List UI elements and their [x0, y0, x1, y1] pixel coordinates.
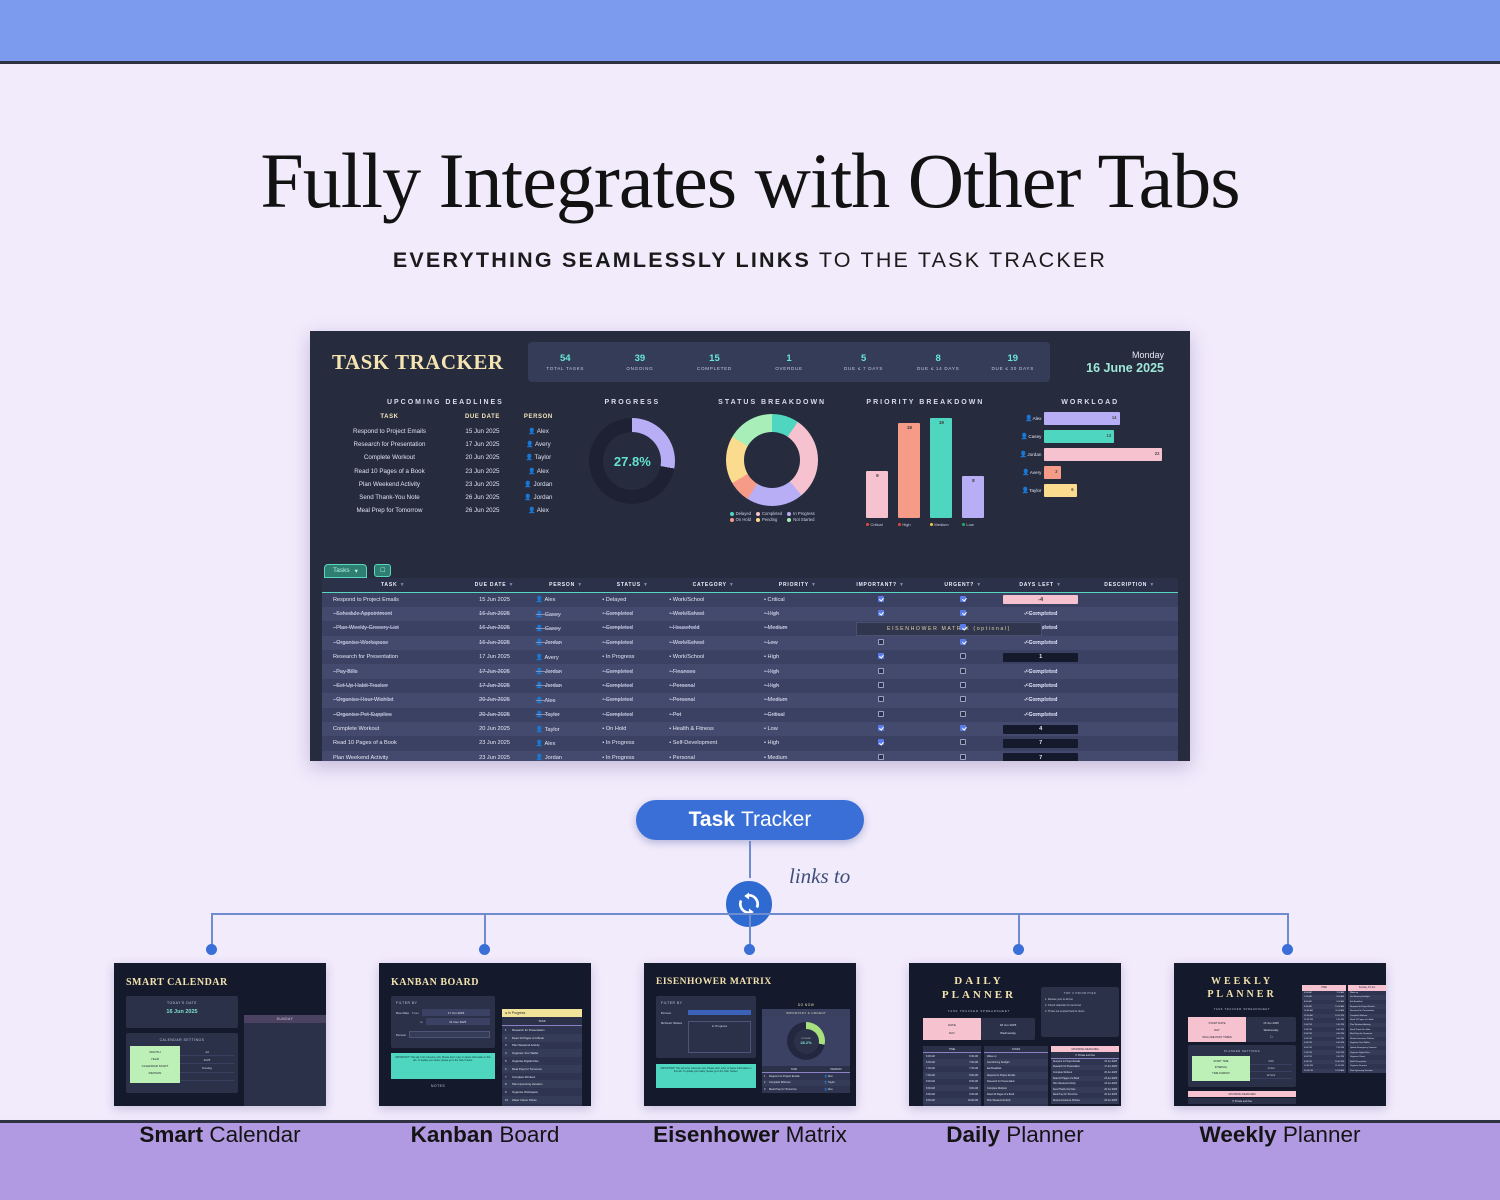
- priority-item: 2. Check calendar for tomorrow: [1045, 1004, 1115, 1007]
- days-left-pill: 4: [1003, 725, 1079, 734]
- kanban-column-title[interactable]: ● In Progress: [502, 1009, 582, 1017]
- time-from: 7:00 AM: [926, 1067, 935, 1070]
- time-to: 12:00 PM: [1335, 1015, 1344, 1017]
- cell-important[interactable]: [835, 650, 927, 664]
- kanban-card-label: Plan Weekend Activity: [512, 1043, 540, 1047]
- cell-important[interactable]: [835, 607, 927, 621]
- table-column-header[interactable]: PRIORITY ▼: [761, 578, 835, 593]
- time-from: 7:30 AM: [926, 1074, 935, 1077]
- workload-bars: 👤Alex 14 👤Casey 13 👤Jordan 22 👤Avery 3 👤…: [1006, 412, 1174, 497]
- kanban-card-index: 1: [505, 1028, 512, 1032]
- cell-important[interactable]: [835, 636, 927, 650]
- charts-row: UPCOMING DEADLINES TASKDUE DATEPERSON Re…: [310, 393, 1190, 553]
- cell-category: • Work/School: [666, 636, 761, 650]
- cell-important[interactable]: [835, 736, 927, 750]
- workload-row: 👤Alex 14: [1006, 412, 1174, 425]
- eis-list-row[interactable]: 1Respond to Project Emails👤 Alex: [762, 1073, 850, 1080]
- table-row[interactable]: –Plan Weekly Grocery List 16 Jun 2025 👤 …: [322, 621, 1178, 635]
- time-from: 1:00 PM: [1304, 1024, 1312, 1026]
- filter-icon[interactable]: ▼: [641, 582, 649, 588]
- legend-color-dot: [787, 512, 791, 516]
- to-label: to: [420, 1020, 423, 1024]
- deadline-due-date: 26 Jun 2025: [453, 492, 512, 503]
- legend-color-dot: [756, 512, 760, 516]
- table-column-header[interactable]: URGENT? ▼: [927, 578, 1000, 593]
- filter-icon[interactable]: ▼: [575, 582, 583, 588]
- cell-category: • Pet: [666, 708, 761, 722]
- cell-status: • In Progress: [599, 751, 666, 761]
- kanban-card-label: Water Indoor Plants: [512, 1098, 537, 1102]
- stat-label: TOTAL TASKS: [528, 366, 603, 371]
- urgent-checkbox[interactable]: [960, 653, 966, 659]
- filter-icon[interactable]: ▼: [1054, 582, 1062, 588]
- urgent-checkbox[interactable]: [960, 696, 966, 702]
- cell-due-date: 23 Jun 2025: [456, 736, 532, 750]
- daily-planner-screenshot: DAILYPLANNER TASK TRACKER SPREADSHEET DA…: [909, 963, 1121, 1106]
- time-from: 11:00 AM: [1304, 1015, 1313, 1017]
- days-left-pill: -4: [1003, 595, 1079, 604]
- setting-value[interactable]: Sunday: [180, 1064, 234, 1072]
- task-tracker-dashboard-screenshot: TASK TRACKER 54 TOTAL TASKS 39 ONGOING 1…: [310, 331, 1190, 761]
- from-value-input[interactable]: 17 Jun 2025: [422, 1009, 490, 1016]
- caption-bold: Weekly: [1200, 1122, 1277, 1147]
- priority-item: 1. Review your to-do list: [1045, 998, 1115, 1001]
- cell-task: –Organise Workspace: [330, 636, 456, 650]
- eis-row-task: Meal Prep for Tomorrow: [769, 1088, 824, 1091]
- stat-label: COMPLETED: [677, 366, 752, 371]
- kanban-card[interactable]: 5Organise Digital Files: [502, 1057, 582, 1065]
- kanban-card[interactable]: 9Organise Workspace: [502, 1088, 582, 1096]
- time-to: 10:00 AM: [1335, 1006, 1344, 1008]
- cell-important[interactable]: [835, 693, 927, 707]
- person-pin-icon: 👤: [536, 612, 543, 618]
- cell-urgent[interactable]: [927, 592, 1000, 607]
- person-pin-icon: 👤: [528, 508, 535, 514]
- deadline-column-header: DUE DATE: [453, 414, 512, 424]
- calendar-settings-label: CALENDAR SETTINGS: [130, 1038, 234, 1042]
- time-to: 11:00 AM: [1335, 1010, 1344, 1012]
- cell-important[interactable]: [835, 722, 927, 736]
- to-value-input[interactable]: 31 Dec 2025: [426, 1018, 490, 1025]
- time-from: 8:00 AM: [1304, 1001, 1312, 1003]
- deadline-due-date: 23 Jun 2025: [453, 479, 512, 490]
- person-pin-icon: 👤: [528, 429, 535, 435]
- workload-bar: 6: [1044, 484, 1076, 497]
- important-checkbox[interactable]: [878, 711, 884, 717]
- filter-icon[interactable]: ▼: [727, 582, 735, 588]
- time-from: 10:00 PM: [1304, 1065, 1313, 1067]
- deadline-date: 26 Jun 2025: [1104, 1100, 1117, 1102]
- person-pin-icon: 👤: [536, 669, 543, 675]
- cell-priority: • High: [761, 679, 835, 693]
- important-checkbox[interactable]: [878, 653, 884, 659]
- deadline-task: Send Thank-You Note: [1053, 1089, 1075, 1091]
- priority-bar-wrap: 18: [898, 423, 920, 518]
- day-value: Wednesday: [981, 1029, 1035, 1037]
- cell-task: Respond to Project Emails: [330, 592, 456, 607]
- days-left-pill: ✓Completed: [1003, 667, 1079, 676]
- legend-color-dot: [730, 518, 734, 522]
- urgent-checkbox[interactable]: [960, 624, 966, 630]
- person-label: Person: [396, 1033, 406, 1037]
- smart-calendar-screenshot: SMART CALENDAR TODAY'S DATE 16 Jun 2025 …: [114, 963, 326, 1106]
- cell-status: • Completed: [599, 708, 666, 722]
- deadline-row: Respond to Project Emails 15 Jun 2025 👤 …: [328, 426, 563, 437]
- cell-important[interactable]: [835, 751, 927, 761]
- linked-tab-card[interactable]: KANBAN BOARD FILTER BY Due Date From 17 …: [379, 963, 591, 1148]
- weekly-setting-labels: START DATE DAY INCLUDE PAST TIMES: [1188, 1017, 1246, 1042]
- linked-tab-card[interactable]: EISENHOWER MATRIX FILTER BY Person Refre…: [644, 963, 856, 1148]
- stat-value: 54: [528, 353, 603, 364]
- weekly-task-row[interactable]: Plan Upcoming Vacation: [1348, 1069, 1386, 1074]
- refresh-status-list[interactable]: In Progress: [688, 1021, 751, 1053]
- important-checkbox[interactable]: [878, 696, 884, 702]
- time-from: 12:00 PM: [1304, 1019, 1313, 1021]
- time-to: 8:00 AM: [1336, 996, 1344, 998]
- deadline-row: Send Thank-You Note 26 Jun 2025 👤 Jordan: [328, 492, 563, 503]
- setting-value[interactable]: Jul: [180, 1048, 234, 1056]
- deadline-due-date: 26 Jun 2025: [453, 505, 512, 516]
- cell-due-date: 20 Jun 2025: [456, 693, 532, 707]
- add-sheet-tab-button[interactable]: ☐: [374, 564, 391, 577]
- filter-icon[interactable]: ▼: [809, 582, 817, 588]
- page-title: Fully Integrates with Other Tabs: [0, 142, 1500, 220]
- sheet-tab-tasks[interactable]: Tasks ▾: [324, 564, 367, 578]
- top-priorities-box: TOP 3 PRIORITIES 1. Review your to-do li…: [1041, 987, 1119, 1037]
- kanban-card[interactable]: 10Water Indoor Plants: [502, 1096, 582, 1104]
- deadline-due-date: 20 Jun 2025: [453, 452, 512, 463]
- important-checkbox[interactable]: [878, 754, 884, 760]
- progress-panel: PROGRESS 27.8%: [569, 399, 696, 553]
- cell-urgent[interactable]: [927, 650, 1000, 664]
- priority-bar-label: Critical: [866, 522, 888, 527]
- daily-time-column: TIME 6:00 AM6:30 AM6:30 AM7:00 AM7:00 AM…: [923, 1046, 981, 1106]
- cell-urgent[interactable]: [927, 664, 1000, 678]
- planner-settings-box: PLANNER SETTINGS START TIMEINTERVALTIME …: [1188, 1045, 1296, 1087]
- table-column-header[interactable]: DUE DATE ▼: [456, 578, 532, 593]
- badge-connector-line: [749, 841, 751, 883]
- caption-bold: Smart: [139, 1122, 203, 1147]
- cell-status: • Delayed: [599, 592, 666, 607]
- kanban-card[interactable]: 1Research for Presentation: [502, 1026, 582, 1034]
- kanban-filter-box: FILTER BY Due Date From 17 Jun 2025 to 3…: [391, 996, 495, 1048]
- kanban-title: KANBAN BOARD: [391, 977, 479, 988]
- cell-status: • Completed: [599, 607, 666, 621]
- card-caption: Kanban Board: [379, 1122, 591, 1148]
- cell-urgent[interactable]: [927, 636, 1000, 650]
- eisenhower-filter-box: FILTER BY Person Refresh Status In Progr…: [656, 996, 756, 1058]
- deadline-task: Review Insurance Policies: [1053, 1100, 1080, 1102]
- important-checkbox[interactable]: [878, 725, 884, 731]
- deadline-person: 👤 Taylor: [514, 452, 563, 463]
- stat-label: DUE ≤ 30 DAYS: [975, 366, 1050, 371]
- workload-bar: 14: [1044, 412, 1119, 425]
- table-column-header[interactable]: DAYS LEFT ▼: [1000, 578, 1082, 593]
- todays-date-box: TODAY'S DATE 16 Jun 2025: [126, 996, 238, 1028]
- deadline-row: Research for Presentation 17 Jun 2025 👤 …: [328, 439, 563, 450]
- legend-color-dot: [756, 518, 760, 522]
- cell-due-date: 17 Jun 2025: [456, 650, 532, 664]
- table-row[interactable]: –Organise Pet Supplies 20 Jun 2025 👤 Tay…: [322, 708, 1178, 722]
- table-row[interactable]: –Organise Hour Wishlist 20 Jun 2025 👤 Al…: [322, 693, 1178, 707]
- workload-person: 👤Avery: [1006, 469, 1044, 476]
- deadline-date: 20 Jun 2025: [1104, 1072, 1117, 1074]
- cell-due-date: 23 Jun 2025: [456, 751, 532, 761]
- chevron-down-icon[interactable]: ▾: [355, 567, 358, 575]
- kanban-card[interactable]: 6Meal Prep for Tomorrow: [502, 1065, 582, 1073]
- deadline-date: 15 Jun 2025: [1104, 1061, 1117, 1063]
- days-left-pill: 1: [1003, 653, 1079, 662]
- date-label: DATE: [923, 1021, 981, 1029]
- important-checkbox[interactable]: [878, 739, 884, 745]
- table-column-header[interactable]: IMPORTANT? ▼: [835, 578, 927, 593]
- time-from: 8:00 AM: [926, 1080, 935, 1083]
- cell-category: • Self-Development: [666, 736, 761, 750]
- stat-value: 1: [752, 353, 827, 364]
- important-checkbox[interactable]: [878, 668, 884, 674]
- weekly-setting-values[interactable]: 15 Jun 2025 Wednesday ☐: [1246, 1017, 1296, 1042]
- important-checkbox[interactable]: [878, 596, 884, 602]
- important-checkbox[interactable]: [878, 639, 884, 645]
- task-tracker-badge[interactable]: TaskTracker: [636, 800, 864, 840]
- stat-value: 39: [603, 353, 678, 364]
- time-to: 11:00 PM: [1335, 1065, 1344, 1067]
- table-row[interactable]: –Organise Workspace 16 Jun 2025 👤 Jordan…: [322, 636, 1178, 650]
- deadlines-subheader: ☐ Private and Due: [1051, 1052, 1119, 1059]
- table-row[interactable]: –Pay Bills 17 Jun 2025 👤 Jordan • Comple…: [322, 664, 1178, 678]
- urgent-checkbox[interactable]: [960, 725, 966, 731]
- deadline-task: Send Thank-You Note: [328, 492, 451, 503]
- status-legend-item: In Progress: [787, 511, 814, 516]
- deadline-person: 👤 Alex: [514, 466, 563, 477]
- progress-title: PROGRESS: [605, 399, 661, 406]
- workload-person: 👤Jordan: [1006, 451, 1044, 458]
- tasks-table: TASK ▼DUE DATE ▼PERSON ▼STATUS ▼CATEGORY…: [322, 578, 1178, 762]
- cell-important[interactable]: [835, 679, 927, 693]
- person-pin-icon: 👤: [536, 655, 543, 661]
- deadline-date: 26 Jun 2025: [1104, 1094, 1117, 1096]
- deadlines-table: TASKDUE DATEPERSON Respond to Project Em…: [326, 412, 565, 518]
- task-slot-row[interactable]: Send Thank-You Note: [984, 1104, 1048, 1106]
- cell-due-date: 17 Jun 2025: [456, 679, 532, 693]
- calendar-settings-box: CALENDAR SETTINGS MONTHYEARCALENDAR STAR…: [126, 1033, 238, 1093]
- setting-label: PERSON: [130, 1070, 180, 1077]
- weekly-day-column: Sunday, 15 Jun Wake upGet Morning Sunlig…: [1348, 985, 1386, 1073]
- cell-category: • Household: [666, 621, 761, 635]
- cell-urgent[interactable]: [927, 607, 1000, 621]
- dashboard-logo: TASK TRACKER: [332, 350, 528, 375]
- workload-bar: 3: [1044, 466, 1060, 479]
- cell-important[interactable]: [835, 664, 927, 678]
- kanban-card[interactable]: 3Plan Weekend Activity: [502, 1042, 582, 1050]
- cell-important[interactable]: [835, 708, 927, 722]
- progress-value: 27.8%: [614, 454, 651, 469]
- setting-value[interactable]: 6:00: [1250, 1058, 1292, 1065]
- table-row[interactable]: Read 10 Pages of a Book 23 Jun 2025 👤 Al…: [322, 736, 1178, 750]
- filter-icon[interactable]: ▼: [506, 582, 514, 588]
- eis-list-row[interactable]: 2Complete Workout👤 Taylor: [762, 1080, 850, 1087]
- time-from: 8:00 PM: [1304, 1056, 1312, 1058]
- from-label: From: [412, 1011, 419, 1015]
- date-value[interactable]: 18 Jun 2025: [981, 1021, 1035, 1029]
- filter-icon[interactable]: ▼: [1147, 582, 1155, 588]
- important-urgent-header: IMPORTANT & URGENT: [762, 1009, 850, 1016]
- stat-value: 8: [901, 353, 976, 364]
- urgent-checkbox[interactable]: [960, 639, 966, 645]
- urgent-checkbox[interactable]: [960, 711, 966, 717]
- urgent-checkbox[interactable]: [960, 596, 966, 602]
- setting-value[interactable]: 12 hour: [1250, 1072, 1292, 1079]
- cell-urgent[interactable]: [927, 693, 1000, 707]
- kanban-card[interactable]: 7Complete Workout: [502, 1073, 582, 1081]
- cell-description: [1081, 607, 1178, 621]
- cell-category: • Health & Fitness: [666, 722, 761, 736]
- table-row[interactable]: Research for Presentation 17 Jun 2025 👤 …: [322, 650, 1178, 664]
- filter-icon[interactable]: ▼: [397, 582, 405, 588]
- urgent-checkbox[interactable]: [960, 754, 966, 760]
- time-from: 9:00 PM: [1304, 1061, 1312, 1063]
- table-column-header[interactable]: STATUS ▼: [599, 578, 666, 593]
- deadline-due-date: 15 Jun 2025: [453, 426, 512, 437]
- time-from: 11:00 PM: [1304, 1070, 1313, 1072]
- card-caption: Eisenhower Matrix: [644, 1122, 856, 1148]
- person-pin-icon: 👤: [536, 640, 543, 646]
- cell-person: 👤 Casey: [533, 621, 600, 635]
- eis-list-row[interactable]: 3Meal Prep for Tomorrow👤 Alex: [762, 1086, 850, 1093]
- person-select[interactable]: [688, 1010, 751, 1015]
- table-column-header[interactable]: TASK ▼: [330, 578, 456, 593]
- important-checkbox[interactable]: [878, 682, 884, 688]
- time-to: 7:00 PM: [1336, 1047, 1344, 1049]
- table-row[interactable]: –Set Up Habit Tracker 17 Jun 2025 👤 Jord…: [322, 679, 1178, 693]
- eisenhower-note-box: IMPORTANT! This tab is for reference onl…: [656, 1064, 756, 1088]
- linked-tabs-cards: SMART CALENDAR TODAY'S DATE 16 Jun 2025 …: [0, 963, 1500, 1148]
- status-legend-item: Delayed: [730, 511, 751, 516]
- priority-breakdown-panel: PRIORITY BREAKDOWN 9 18 19 8 Critical Hi…: [848, 399, 1002, 553]
- cell-urgent[interactable]: [927, 751, 1000, 761]
- deadline-date: 17 Jun 2025: [1104, 1066, 1117, 1068]
- calendar-settings-values[interactable]: Jul2025Sunday: [180, 1046, 234, 1083]
- urgent-checkbox[interactable]: [960, 610, 966, 616]
- legend-color-dot: [787, 518, 791, 522]
- status-legend-item: Not Started: [787, 517, 814, 522]
- cell-urgent[interactable]: [927, 736, 1000, 750]
- linked-tab-card[interactable]: WEEKLYPLANNER TASK TRACKER SPREADSHEET S…: [1174, 963, 1386, 1148]
- workload-value: 22: [1155, 451, 1160, 456]
- priority-bar-label: Medium: [930, 522, 952, 527]
- linked-tab-card[interactable]: SMART CALENDAR TODAY'S DATE 16 Jun 2025 …: [114, 963, 326, 1148]
- kanban-card[interactable]: 8Plan Upcoming Vacation: [502, 1080, 582, 1088]
- cell-priority: • Critical: [761, 708, 835, 722]
- cell-status: • In Progress: [599, 650, 666, 664]
- setting-value[interactable]: 2025: [180, 1056, 234, 1064]
- cell-category: • Work/School: [666, 592, 761, 607]
- cell-urgent[interactable]: [927, 679, 1000, 693]
- deadline-row: Read 10 Pages of a Book 23 Jun 2025 👤 Al…: [328, 466, 563, 477]
- cell-urgent[interactable]: [927, 708, 1000, 722]
- daily-date-values[interactable]: 18 Jun 2025 Wednesday: [981, 1018, 1035, 1040]
- start-date-label: START DATE: [1188, 1019, 1246, 1026]
- person-pin-icon: 👤: [1021, 434, 1028, 440]
- do-now-quadrant: DO NOW IMPORTANT & URGENT DO NOW 28.2% T…: [762, 1003, 850, 1093]
- person-pin-icon: 👤: [536, 755, 543, 761]
- filter-icon[interactable]: ▼: [974, 582, 982, 588]
- cell-person: 👤 Taylor: [533, 708, 600, 722]
- table-column-header[interactable]: DESCRIPTION ▼: [1081, 578, 1178, 593]
- table-row[interactable]: –Schedule Appointment 16 Jun 2025 👤 Case…: [322, 607, 1178, 621]
- deadline-row: Meal Prep for Tomorrow 26 Jun 2025 👤 Ale…: [328, 505, 563, 516]
- cell-description: [1081, 736, 1178, 750]
- setting-value[interactable]: 1 hour: [1250, 1065, 1292, 1072]
- workload-value: 6: [1071, 487, 1073, 492]
- table-row[interactable]: Plan Weekend Activity 23 Jun 2025 👤 Jord…: [322, 751, 1178, 761]
- urgent-checkbox[interactable]: [960, 739, 966, 745]
- table-row[interactable]: Respond to Project Emails 15 Jun 2025 👤 …: [322, 592, 1178, 607]
- include-past-checkbox[interactable]: ☐: [1246, 1033, 1296, 1040]
- cell-category: • Personal: [666, 693, 761, 707]
- kanban-card[interactable]: 2Read 10 Pages of a Book: [502, 1034, 582, 1042]
- deadline-task: Research for Presentation: [328, 439, 451, 450]
- cell-person: 👤 Avery: [533, 650, 600, 664]
- cell-task: –Set Up Habit Tracker: [330, 679, 456, 693]
- important-checkbox[interactable]: [878, 610, 884, 616]
- days-left-pill: ✓Completed: [1003, 710, 1079, 719]
- connector-node-3: [744, 944, 755, 955]
- table-column-header[interactable]: CATEGORY ▼: [666, 578, 761, 593]
- table-column-header[interactable]: PERSON ▼: [533, 578, 600, 593]
- workload-value: 13: [1106, 433, 1111, 438]
- cell-task: Complete Workout: [330, 722, 456, 736]
- time-to: 7:00 AM: [969, 1061, 978, 1064]
- time-from: 9:00 AM: [926, 1093, 935, 1096]
- time-to: 6:30 AM: [969, 1055, 978, 1058]
- setting-value[interactable]: [180, 1073, 234, 1081]
- filter-icon[interactable]: ▼: [897, 582, 905, 588]
- days-left-pill: ✓Completed: [1003, 696, 1079, 705]
- cell-urgent[interactable]: [927, 722, 1000, 736]
- kanban-card-label: Read 10 Pages of a Book: [512, 1036, 544, 1040]
- table-row[interactable]: Complete Workout 20 Jun 2025 👤 Taylor • …: [322, 722, 1178, 736]
- time-from: 6:00 PM: [1304, 1047, 1312, 1049]
- urgent-checkbox[interactable]: [960, 668, 966, 674]
- person-select[interactable]: [409, 1031, 490, 1038]
- cell-days-left: 7: [1000, 736, 1082, 750]
- kanban-card-index: 10: [505, 1098, 512, 1102]
- time-from: 2:00 PM: [1304, 1029, 1312, 1031]
- cell-status: • Completed: [599, 621, 666, 635]
- cell-person: 👤 Jordan: [533, 636, 600, 650]
- start-date-value[interactable]: 15 Jun 2025: [1246, 1019, 1296, 1026]
- cell-days-left: ✓Completed: [1000, 636, 1082, 650]
- time-from: 6:30 AM: [926, 1061, 935, 1064]
- kanban-card[interactable]: 11Refill Prescription: [502, 1104, 582, 1106]
- cell-important[interactable]: [835, 592, 927, 607]
- planner-settings-values[interactable]: 6:001 hour12 hour: [1250, 1056, 1292, 1081]
- cell-task: –Organise Pet Supplies: [330, 708, 456, 722]
- eis-row-person: 👤 Alex: [824, 1075, 848, 1078]
- priority-bar-label: High: [898, 522, 920, 527]
- stat-label: OVERDUE: [752, 366, 827, 371]
- urgent-checkbox[interactable]: [960, 682, 966, 688]
- kanban-card[interactable]: 4Organise Your Wallet: [502, 1049, 582, 1057]
- deadline-task: Meal Prep for Tomorrow: [328, 505, 451, 516]
- cell-due-date: 16 Jun 2025: [456, 636, 532, 650]
- linked-tab-card[interactable]: DAILYPLANNER TASK TRACKER SPREADSHEET DA…: [909, 963, 1121, 1148]
- calendar-day-header: SUNDAY: [244, 1015, 326, 1023]
- eisenhower-matrix-screenshot: EISENHOWER MATRIX FILTER BY Person Refre…: [644, 963, 856, 1106]
- cell-days-left: ✓Completed: [1000, 693, 1082, 707]
- kanban-card-label: Meal Prep for Tomorrow: [512, 1067, 542, 1071]
